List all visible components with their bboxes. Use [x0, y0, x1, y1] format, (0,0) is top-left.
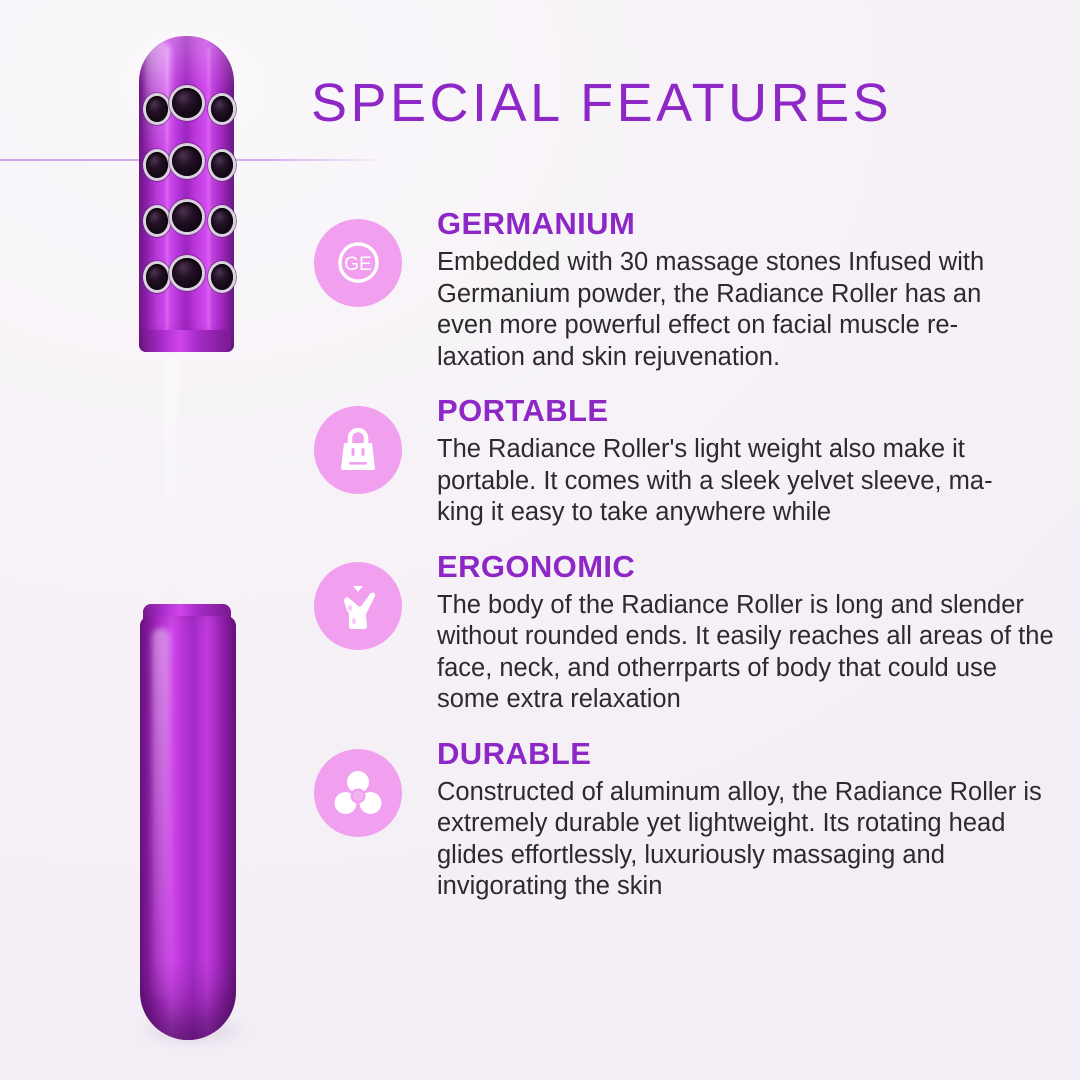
feature-text-ergonomic: ERGONOMIC The body of the Radiance Rolle…: [437, 548, 1054, 716]
feature-heading: PORTABLE: [437, 394, 1037, 428]
feature-item-portable: PORTABLE The Radiance Roller's light wei…: [314, 392, 1054, 529]
handle-highlight: [152, 628, 170, 998]
feature-text-germanium: GERMANIUM Embedded with 30 massage stone…: [437, 205, 1037, 373]
hand-massage-icon: [314, 562, 402, 650]
massage-stone-hole: [146, 208, 168, 234]
handbag-icon: [314, 406, 402, 494]
shaft-highlight: [164, 356, 178, 606]
feature-item-ergonomic: ERGONOMIC The body of the Radiance Rolle…: [314, 548, 1054, 716]
massage-stone-hole: [211, 264, 233, 290]
feature-heading: GERMANIUM: [437, 207, 1037, 241]
feature-text-durable: DURABLE Constructed of aluminum alloy, t…: [437, 735, 1054, 903]
massage-stone-hole: [172, 88, 202, 118]
massage-stone-hole: [211, 152, 233, 178]
germanium-ge-badge-icon: GE: [314, 219, 402, 307]
rotor-blades-icon: [314, 749, 402, 837]
massage-stone-hole: [211, 208, 233, 234]
feature-text-portable: PORTABLE The Radiance Roller's light wei…: [437, 392, 1037, 529]
massage-stone-hole: [146, 264, 168, 290]
feature-body: The Radiance Roller's light weight also …: [437, 434, 1037, 529]
massage-stone-hole: [172, 146, 202, 176]
product-image-radiance-roller: [0, 0, 300, 1080]
massage-stone-hole: [172, 258, 202, 288]
head-facet-seam: [208, 48, 210, 348]
svg-text:GE: GE: [344, 254, 371, 275]
feature-heading: ERGONOMIC: [437, 550, 1054, 584]
head-facet-seam: [166, 48, 168, 348]
massage-stone-hole: [172, 202, 202, 232]
massage-stone-hole: [146, 152, 168, 178]
page-title: SPECIAL FEATURES: [311, 72, 892, 134]
feature-body: The body of the Radiance Roller is long …: [437, 590, 1054, 716]
roller-shaft: [152, 348, 222, 626]
massage-stone-hole: [211, 96, 233, 122]
feature-body: Embedded with 30 massage stones Infused …: [437, 247, 1037, 373]
feature-item-durable: DURABLE Constructed of aluminum alloy, t…: [314, 735, 1054, 903]
massage-stone-hole: [146, 96, 168, 122]
feature-list: GE GERMANIUM Embedded with 30 massage st…: [314, 205, 1054, 903]
feature-item-germanium: GE GERMANIUM Embedded with 30 massage st…: [314, 205, 1054, 373]
infographic-page: SPECIAL FEATURES GE GERMANIUM Embedded w…: [0, 0, 1080, 1080]
feature-heading: DURABLE: [437, 737, 1054, 771]
feature-body: Constructed of aluminum alloy, the Radia…: [437, 777, 1054, 903]
